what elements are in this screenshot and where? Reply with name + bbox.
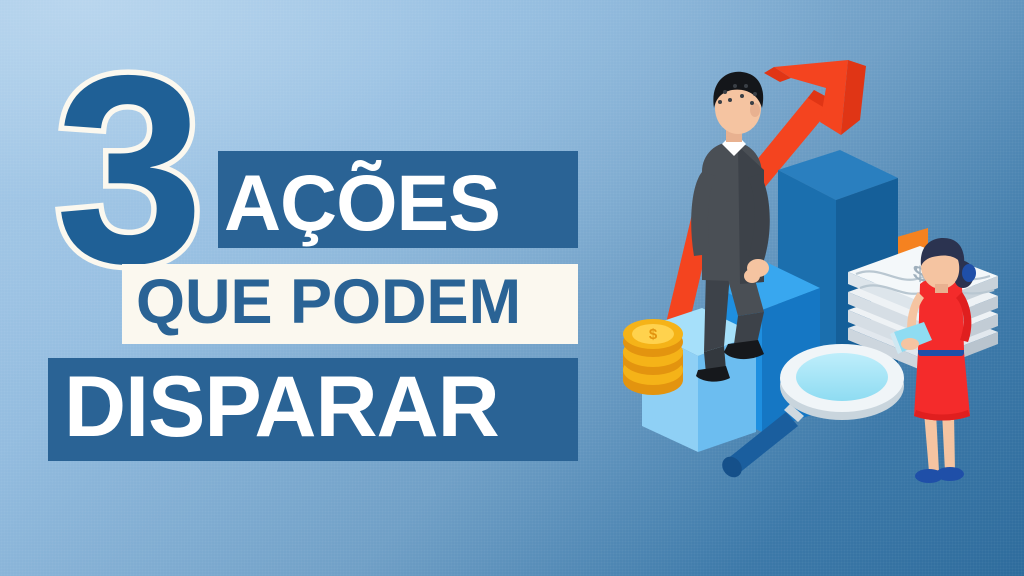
headline-block: 3 AÇÕES QUE PODEM DISPARAR <box>0 0 600 576</box>
headline-band-disparar: DISPARAR <box>48 358 578 461</box>
headline-line-2-text: QUE PODEM <box>136 266 521 338</box>
headline-line-1-text: AÇÕES <box>224 157 500 249</box>
coin-currency-symbol: $ <box>649 326 658 343</box>
poster-canvas: 3 AÇÕES QUE PODEM DISPARAR <box>0 0 1024 576</box>
headline-band-acoes: AÇÕES <box>218 151 578 248</box>
headline-band-que-podem: QUE PODEM <box>122 264 578 344</box>
headline-line-3-text: DISPARAR <box>64 358 499 457</box>
coin-stack-icon: $ <box>623 319 683 395</box>
headline-numeral: 3 <box>55 44 196 294</box>
isometric-illustration: $ $ <box>598 60 1018 500</box>
